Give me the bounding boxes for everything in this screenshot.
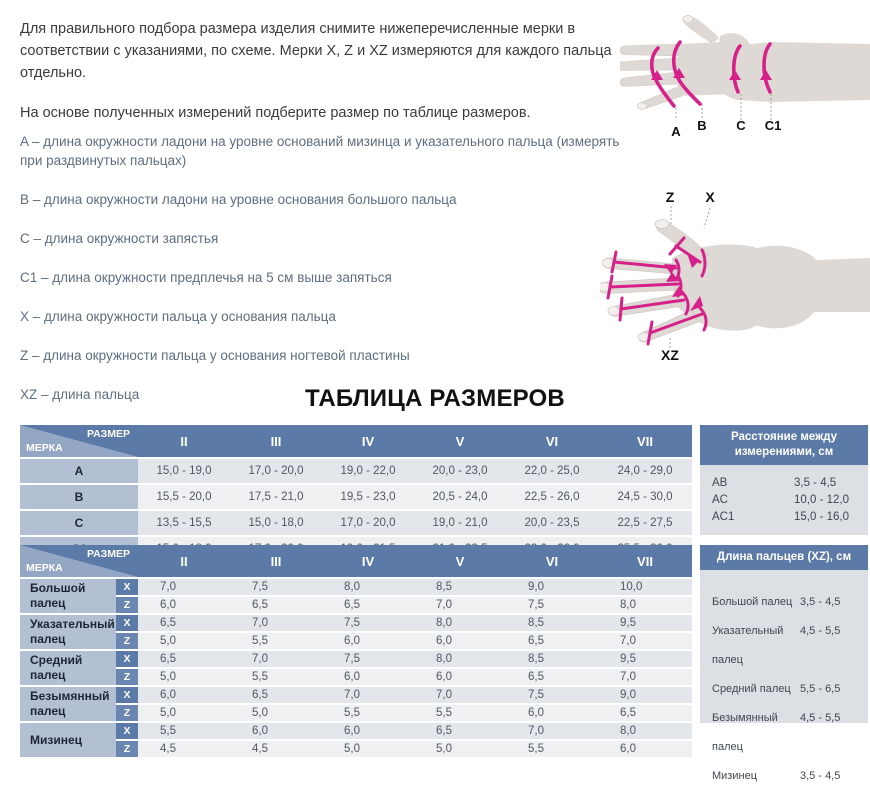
legend-item-z: Z – длина окружности пальца у основания … xyxy=(20,346,620,365)
table2-cell: 5,5 xyxy=(506,740,598,758)
table2-cell: 7,0 xyxy=(322,686,414,704)
table2-cell: 5,0 xyxy=(322,740,414,758)
table2-cell: 7,5 xyxy=(506,686,598,704)
table-row: A 15,0 - 19,0 17,0 - 20,0 19,0 - 22,0 20… xyxy=(20,458,692,484)
table2-cell: 6,5 xyxy=(230,686,322,704)
table2-cell: 6,5 xyxy=(322,596,414,614)
finger-row-label: Безымянный палец xyxy=(20,686,116,722)
table-row: Указательный палец X 6,5 7,0 7,5 8,0 8,5… xyxy=(20,614,692,632)
distance-name: AC1 xyxy=(712,509,734,526)
table2-cell: 6,0 xyxy=(138,686,230,704)
hand-silhouette-1 xyxy=(620,16,870,110)
table2-col-vi: VI xyxy=(506,545,598,578)
table2-cell: 6,0 xyxy=(506,704,598,722)
table2-cell: 7,5 xyxy=(322,614,414,632)
table2-cell: 8,0 xyxy=(414,650,506,668)
legend-item-x: X – длина окружности пальца у основания … xyxy=(20,307,620,326)
table1-cell: 20,5 - 24,0 xyxy=(414,484,506,510)
table2-cell: 6,0 xyxy=(138,596,230,614)
table2-cell: 8,5 xyxy=(506,614,598,632)
table2-cell: 6,0 xyxy=(598,740,692,758)
table1-header-row: РАЗМЕР МЕРКА II III IV V VI VII xyxy=(20,425,692,458)
table1-cell: 17,0 - 20,0 xyxy=(230,458,322,484)
table2-cell: 5,5 xyxy=(414,704,506,722)
corner-mark-label: МЕРКА xyxy=(26,562,63,574)
legend-item-c1: C1 – длина окружности предплечья на 5 см… xyxy=(20,268,620,287)
table1-col-v: V xyxy=(414,425,506,458)
distance-value: 3,5 - 4,5 xyxy=(794,475,856,492)
measure-z-label: Z xyxy=(116,596,138,614)
table2-cell: 7,0 xyxy=(230,614,322,632)
table2-cell: 8,0 xyxy=(598,596,692,614)
table2-cell: 9,0 xyxy=(506,578,598,596)
finger-length-name: Средний палец xyxy=(712,675,791,704)
hand-silhouette-2 xyxy=(600,220,870,343)
table2-cell: 8,0 xyxy=(598,722,692,740)
distance-panel: Расстояние между измерениями, см AB 3,5 … xyxy=(700,425,868,535)
measure-x-label: X xyxy=(116,614,138,632)
table1-cell: 22,0 - 25,0 xyxy=(506,458,598,484)
diagram1-label-b: B xyxy=(697,118,706,133)
diagram1-label-c1: C1 xyxy=(765,118,782,133)
table-row: Средний палец X 6,5 7,0 7,5 8,0 8,5 9,5 xyxy=(20,650,692,668)
table2-cell: 7,5 xyxy=(230,578,322,596)
measure-z-label: Z xyxy=(116,740,138,758)
table-row: Z 5,0 5,0 5,5 5,5 6,0 6,5 xyxy=(20,704,692,722)
table2-col-iii: III xyxy=(230,545,322,578)
table1-cell: 19,0 - 21,0 xyxy=(414,510,506,536)
table1-row-label: A xyxy=(20,458,138,484)
finger-length-name: Безымянный палец xyxy=(712,704,800,762)
table2-cell: 6,5 xyxy=(138,614,230,632)
intro-block: Для правильного подбора размера изделия … xyxy=(20,18,620,142)
distance-value: 10,0 - 12,0 xyxy=(794,492,856,509)
table2-cell: 5,5 xyxy=(138,722,230,740)
table1-cell: 15,0 - 18,0 xyxy=(230,510,322,536)
table2-cell: 8,5 xyxy=(414,578,506,596)
distance-name: AC xyxy=(712,492,728,509)
table-row: Мизинец X 5,5 6,0 6,0 6,5 7,0 8,0 xyxy=(20,722,692,740)
table1-col-iv: IV xyxy=(322,425,414,458)
finger-length-row: Средний палец 5,5 - 6,5 xyxy=(712,675,856,704)
finger-row-label: Указательный палец xyxy=(20,614,116,650)
table2-cell: 7,0 xyxy=(506,722,598,740)
measurement-legend: A – длина окружности ладони на уровне ос… xyxy=(20,132,620,424)
finger-length-row: Указательный палец 4,5 - 5,5 xyxy=(712,617,856,675)
diagram2-label-z: Z xyxy=(666,189,675,205)
table2-cell: 7,0 xyxy=(414,686,506,704)
legend-item-b: B – длина окружности ладони на уровне ос… xyxy=(20,190,620,209)
table1-cell: 24,0 - 29,0 xyxy=(598,458,692,484)
measure-z-label: Z xyxy=(116,704,138,722)
finger-row-label: Средний палец xyxy=(20,650,116,686)
table-row: Безымянный палец X 6,0 6,5 7,0 7,0 7,5 9… xyxy=(20,686,692,704)
hand-diagram-fingers: Z X XZ xyxy=(600,180,870,360)
table2-cell: 5,0 xyxy=(414,740,506,758)
table2-cell: 6,0 xyxy=(322,632,414,650)
table2-cell: 6,0 xyxy=(322,722,414,740)
distance-name: AB xyxy=(712,475,727,492)
finger-length-value: 3,5 - 4,5 xyxy=(800,762,856,791)
finger-length-panel-body: Большой палец 3,5 - 4,5 Указательный пал… xyxy=(700,570,868,791)
finger-row-label: Большой палец xyxy=(20,578,116,614)
distance-value: 15,0 - 16,0 xyxy=(794,509,856,526)
table2-col-v: V xyxy=(414,545,506,578)
size-table-fingers: РАЗМЕР МЕРКА II III IV V VI VII Большой … xyxy=(20,545,692,759)
table1-row-label: B xyxy=(20,484,138,510)
measure-x-label: X xyxy=(116,722,138,740)
table2-cell: 7,0 xyxy=(598,632,692,650)
table-row: Z 5,0 5,5 6,0 6,0 6,5 7,0 xyxy=(20,632,692,650)
table2-cell: 5,0 xyxy=(230,704,322,722)
distance-panel-body: AB 3,5 - 4,5 AC 10,0 - 12,0 AC1 15,0 - 1… xyxy=(700,465,868,526)
table1-cell: 17,5 - 21,0 xyxy=(230,484,322,510)
finger-length-value: 3,5 - 4,5 xyxy=(800,588,856,617)
table2-cell: 6,0 xyxy=(322,668,414,686)
table1-col-iii: III xyxy=(230,425,322,458)
table1-cell: 19,0 - 22,0 xyxy=(322,458,414,484)
table1-col-ii: II xyxy=(138,425,230,458)
table2-cell: 6,0 xyxy=(414,668,506,686)
table1-cell: 20,0 - 23,5 xyxy=(506,510,598,536)
table2-cell: 9,5 xyxy=(598,614,692,632)
table1-cell: 20,0 - 23,0 xyxy=(414,458,506,484)
table2-col-ii: II xyxy=(138,545,230,578)
table2-cell: 6,5 xyxy=(506,632,598,650)
table-row: Z 4,5 4,5 5,0 5,0 5,5 6,0 xyxy=(20,740,692,758)
table1-cell: 15,5 - 20,0 xyxy=(138,484,230,510)
table1-cell: 19,5 - 23,0 xyxy=(322,484,414,510)
table-row: C 13,5 - 15,5 15,0 - 18,0 17,0 - 20,0 19… xyxy=(20,510,692,536)
finger-length-value: 4,5 - 5,5 xyxy=(800,617,856,675)
table2-cell: 6,5 xyxy=(506,668,598,686)
diagram1-label-c: C xyxy=(736,118,746,133)
hand-diagram-circumference: A B C C1 xyxy=(620,8,870,158)
corner-size-label: РАЗМЕР xyxy=(87,548,130,560)
measure-x-label: X xyxy=(116,686,138,704)
intro-paragraph-2: На основе полученных измерений подберите… xyxy=(20,102,620,124)
table2-cell: 4,5 xyxy=(230,740,322,758)
table2-cell: 6,0 xyxy=(230,722,322,740)
finger-length-value: 5,5 - 6,5 xyxy=(800,675,856,704)
table1-cell: 13,5 - 15,5 xyxy=(138,510,230,536)
table1-col-vii: VII xyxy=(598,425,692,458)
table2-cell: 4,5 xyxy=(138,740,230,758)
table1-row-label: C xyxy=(20,510,138,536)
table-row: Z 5,0 5,5 6,0 6,0 6,5 7,0 xyxy=(20,668,692,686)
table2-cell: 8,5 xyxy=(506,650,598,668)
diagram2-label-x: X xyxy=(705,189,715,205)
distance-panel-title: Расстояние между измерениями, см xyxy=(700,425,868,465)
finger-length-row: Большой палец 3,5 - 4,5 xyxy=(712,588,856,617)
table2-cell: 6,5 xyxy=(138,650,230,668)
finger-length-panel-title: Длина пальцев (XZ), см xyxy=(700,545,868,570)
table2-cell: 7,0 xyxy=(598,668,692,686)
table2-corner-cell: РАЗМЕР МЕРКА xyxy=(20,545,138,578)
table2-cell: 7,5 xyxy=(506,596,598,614)
table2-cell: 7,0 xyxy=(414,596,506,614)
table2-cell: 5,5 xyxy=(322,704,414,722)
finger-length-row: Безымянный палец 4,5 - 5,5 xyxy=(712,704,856,762)
table1-cell: 22,5 - 26,0 xyxy=(506,484,598,510)
table2-cell: 8,0 xyxy=(322,578,414,596)
corner-size-label: РАЗМЕР xyxy=(87,428,130,440)
table-row: Большой палец X 7,0 7,5 8,0 8,5 9,0 10,0 xyxy=(20,578,692,596)
intro-paragraph-1: Для правильного подбора размера изделия … xyxy=(20,18,620,84)
diagram2-label-xz: XZ xyxy=(661,347,679,360)
table1-col-vi: VI xyxy=(506,425,598,458)
table2-cell: 9,0 xyxy=(598,686,692,704)
table2-cell: 5,0 xyxy=(138,632,230,650)
distance-row: AC 10,0 - 12,0 xyxy=(712,492,856,509)
corner-mark-label: МЕРКА xyxy=(26,442,63,454)
table-row: Z 6,0 6,5 6,5 7,0 7,5 8,0 xyxy=(20,596,692,614)
table1-cell: 17,0 - 20,0 xyxy=(322,510,414,536)
finger-length-name: Мизинец xyxy=(712,762,757,791)
table1-cell: 22,5 - 27,5 xyxy=(598,510,692,536)
table2-cell: 7,0 xyxy=(138,578,230,596)
diagram1-label-a: A xyxy=(671,124,681,139)
measure-z-label: Z xyxy=(116,632,138,650)
table2-cell: 9,5 xyxy=(598,650,692,668)
table2-cell: 5,5 xyxy=(230,668,322,686)
table2-cell: 10,0 xyxy=(598,578,692,596)
distance-row: AC1 15,0 - 16,0 xyxy=(712,509,856,526)
size-chart-page: Для правильного подбора размера изделия … xyxy=(0,0,870,752)
table2-cell: 5,0 xyxy=(138,704,230,722)
legend-item-c: C – длина окружности запястья xyxy=(20,229,620,248)
measure-x-label: X xyxy=(116,578,138,596)
finger-row-label: Мизинец xyxy=(20,722,116,758)
table2-col-iv: IV xyxy=(322,545,414,578)
distance-row: AB 3,5 - 4,5 xyxy=(712,475,856,492)
table1-corner-cell: РАЗМЕР МЕРКА xyxy=(20,425,138,458)
legend-item-a: A – длина окружности ладони на уровне ос… xyxy=(20,132,620,170)
page-title: ТАБЛИЦА РАЗМЕРОВ xyxy=(0,385,870,413)
table2-cell: 5,5 xyxy=(230,632,322,650)
table2-cell: 6,0 xyxy=(414,632,506,650)
size-table-circumference: РАЗМЕР МЕРКА II III IV V VI VII A 15,0 -… xyxy=(20,425,692,563)
measure-z-label: Z xyxy=(116,668,138,686)
table2-cell: 6,5 xyxy=(598,704,692,722)
table-row: B 15,5 - 20,0 17,5 - 21,0 19,5 - 23,0 20… xyxy=(20,484,692,510)
table2-cell: 7,0 xyxy=(230,650,322,668)
table2-cell: 7,5 xyxy=(322,650,414,668)
finger-length-panel: Длина пальцев (XZ), см Большой палец 3,5… xyxy=(700,545,868,723)
finger-length-name: Указательный палец xyxy=(712,617,800,675)
table2-header-row: РАЗМЕР МЕРКА II III IV V VI VII xyxy=(20,545,692,578)
measure-x-label: X xyxy=(116,650,138,668)
table2-col-vii: VII xyxy=(598,545,692,578)
table2-cell: 8,0 xyxy=(414,614,506,632)
finger-length-name: Большой палец xyxy=(712,588,792,617)
table2-cell: 6,5 xyxy=(414,722,506,740)
finger-length-row: Мизинец 3,5 - 4,5 xyxy=(712,762,856,791)
table1-cell: 24,5 - 30,0 xyxy=(598,484,692,510)
finger-length-value: 4,5 - 5,5 xyxy=(800,704,856,762)
table2-cell: 5,0 xyxy=(138,668,230,686)
table2-cell: 6,5 xyxy=(230,596,322,614)
table1-cell: 15,0 - 19,0 xyxy=(138,458,230,484)
